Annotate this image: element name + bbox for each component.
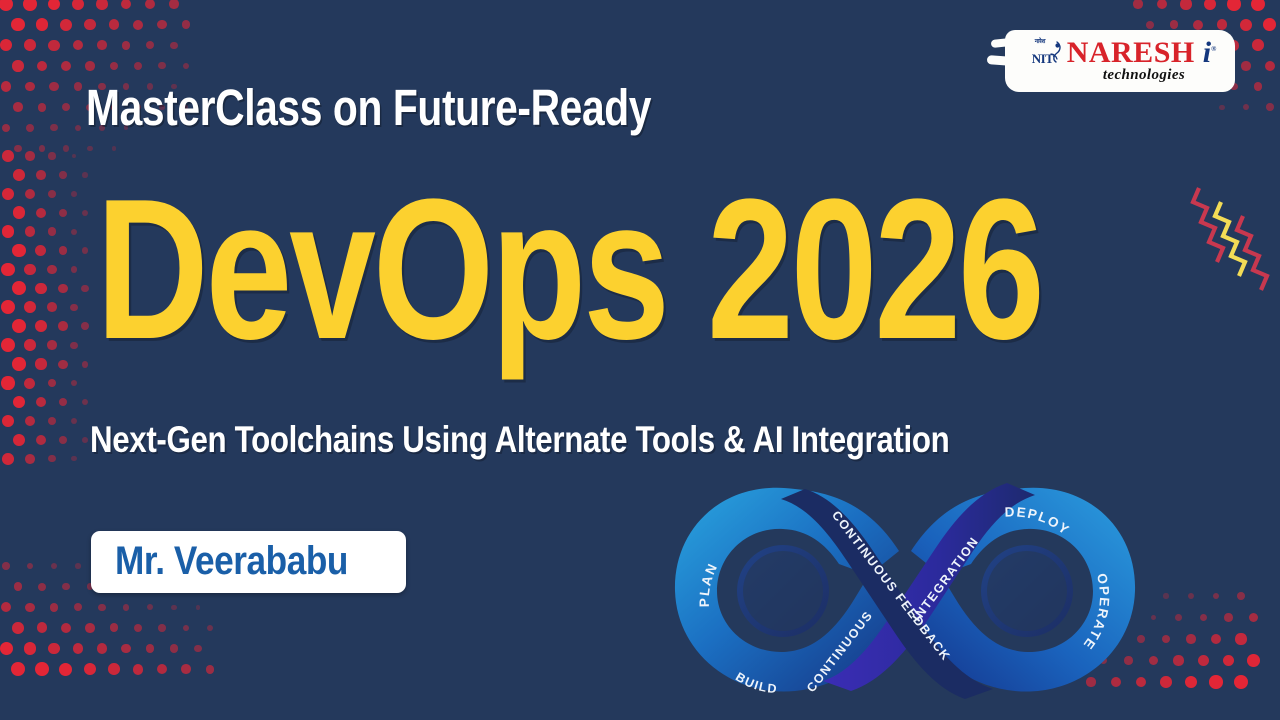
decorative-dot xyxy=(12,357,26,371)
zigzag-red-2 xyxy=(1237,216,1267,290)
decorative-dot xyxy=(13,206,26,219)
decorative-dot xyxy=(196,605,201,610)
decorative-dot xyxy=(74,603,82,611)
decorative-dot xyxy=(25,226,36,237)
decorative-dot xyxy=(39,145,46,152)
right-hole-core xyxy=(987,551,1067,631)
decorative-dot xyxy=(35,245,46,256)
decorative-dot xyxy=(1146,21,1154,29)
decorative-dot xyxy=(1157,0,1167,9)
decorative-dot xyxy=(11,18,24,31)
decorative-dot xyxy=(38,583,46,591)
decorative-dot xyxy=(1162,635,1170,643)
decorative-dot xyxy=(58,321,68,331)
decorative-dot xyxy=(73,40,83,50)
decorative-dot xyxy=(2,453,14,465)
decorative-dot xyxy=(70,304,78,312)
decorative-dots-left-edge xyxy=(0,150,90,570)
logo-swirl-icon xyxy=(1047,41,1063,63)
decorative-dot xyxy=(1241,61,1250,70)
decorative-dot xyxy=(14,145,22,153)
decorative-dot xyxy=(110,62,119,71)
decorative-dot xyxy=(145,0,155,9)
decorative-dot xyxy=(181,664,191,674)
logo-brand-initial: i® xyxy=(1203,38,1217,68)
decorative-dot xyxy=(108,663,120,675)
decorative-dot xyxy=(1249,613,1258,622)
decorative-dot xyxy=(170,644,178,652)
decorative-dot xyxy=(75,125,81,131)
decorative-dot xyxy=(24,301,36,313)
decorative-dot xyxy=(1,263,15,277)
decorative-dot xyxy=(59,171,66,178)
decorative-dot xyxy=(48,152,55,159)
hero-title: DevOps 2026 xyxy=(96,170,1042,370)
decorative-dot xyxy=(62,103,70,111)
decorative-dot xyxy=(59,436,67,444)
decorative-dot xyxy=(169,0,178,9)
decorative-dot xyxy=(183,63,189,69)
decorative-dot xyxy=(1219,105,1224,110)
decorative-dot xyxy=(25,189,35,199)
decorative-dot xyxy=(58,360,67,369)
decorative-dot xyxy=(63,145,69,151)
decorative-dot xyxy=(1243,104,1249,110)
decorative-dot xyxy=(24,39,36,51)
kicker-text: MasterClass on Future-Ready xyxy=(86,78,651,137)
decorative-dot xyxy=(12,622,24,634)
zigzag-decoration-icon xyxy=(1185,170,1280,320)
decorative-dot xyxy=(47,340,56,349)
decorative-dot xyxy=(71,418,77,424)
decorative-dot xyxy=(2,124,11,133)
decorative-dot xyxy=(1209,675,1223,689)
decorative-dot xyxy=(110,623,119,632)
decorative-dot xyxy=(48,190,56,198)
decorative-dot xyxy=(0,642,13,655)
decorative-dot xyxy=(1,376,14,389)
decorative-dot xyxy=(1160,676,1172,688)
decorative-dot xyxy=(1,300,15,314)
decorative-dot xyxy=(1265,61,1275,71)
decorative-dot xyxy=(1,602,11,612)
naresh-technologies-logo[interactable]: नारेश NIT NARESH i® technologies xyxy=(1005,30,1235,92)
decorative-dot xyxy=(1,338,15,352)
decorative-dot xyxy=(25,151,34,160)
decorative-dot xyxy=(71,266,78,273)
decorative-dot xyxy=(183,625,190,632)
decorative-dot xyxy=(62,583,69,590)
decorative-dot xyxy=(48,40,59,51)
decorative-dot xyxy=(36,208,46,218)
decorative-dot xyxy=(12,319,26,333)
decorative-dot xyxy=(72,154,77,159)
decorative-dot xyxy=(71,191,77,197)
decorative-dot xyxy=(12,244,25,257)
decorative-dot xyxy=(50,603,59,612)
decorative-dot xyxy=(36,170,46,180)
decorative-dot xyxy=(87,146,92,151)
decorative-dot xyxy=(35,283,47,295)
decorative-dot xyxy=(13,102,23,112)
devops-infinity-diagram: PLAN BUILD CONTINUOUS CONTINUOUS FEEDBAC… xyxy=(655,455,1155,720)
decorative-dot xyxy=(72,0,84,10)
decorative-dot xyxy=(60,19,72,31)
decorative-dot xyxy=(49,82,58,91)
decorative-dot xyxy=(82,437,88,443)
decorative-dot xyxy=(73,643,84,654)
decorative-dot xyxy=(1227,0,1240,11)
infinity-ribbon xyxy=(675,483,1135,699)
decorative-dot xyxy=(157,664,167,674)
decorative-dot xyxy=(37,622,48,633)
decorative-dot xyxy=(27,563,34,570)
decorative-dot xyxy=(1198,655,1209,666)
logo-tagline: technologies xyxy=(1103,67,1185,84)
decorative-dot xyxy=(24,339,36,351)
decorative-dot xyxy=(1213,593,1220,600)
decorative-dot xyxy=(1251,0,1265,11)
decorative-dot xyxy=(121,644,131,654)
decorative-dot xyxy=(13,169,25,181)
decorative-dot xyxy=(170,42,177,49)
decorative-dot xyxy=(1173,655,1183,665)
decorative-dot xyxy=(96,0,108,10)
decorative-dot xyxy=(133,664,144,675)
decorative-dot xyxy=(37,61,48,72)
decorative-dot xyxy=(48,455,55,462)
decorative-dot xyxy=(24,378,35,389)
nit-emblem-icon: नारेश NIT xyxy=(1032,40,1062,66)
decorative-dot xyxy=(35,320,47,332)
decorative-dot xyxy=(112,146,117,151)
decorative-dot xyxy=(48,417,56,425)
decorative-dot xyxy=(0,0,13,11)
decorative-dot xyxy=(84,19,95,30)
decorative-dot xyxy=(82,210,88,216)
decorative-dot xyxy=(82,399,88,405)
decorative-dot xyxy=(82,247,89,254)
speaker-name: Mr. Veerababu xyxy=(115,540,348,582)
decorative-dot xyxy=(2,415,15,428)
decorative-dot xyxy=(1252,39,1264,51)
decorative-dot xyxy=(157,20,166,29)
decorative-dot xyxy=(26,124,34,132)
decorative-dot xyxy=(14,582,23,591)
decorative-dot xyxy=(1186,634,1195,643)
decorative-dot xyxy=(61,61,71,71)
decorative-dot xyxy=(146,644,155,653)
decorative-dot xyxy=(109,19,120,30)
decorative-dot xyxy=(12,281,26,295)
decorative-dot xyxy=(70,342,77,349)
decorative-dot xyxy=(158,62,165,69)
decorative-dot xyxy=(71,456,76,461)
decorative-dot xyxy=(123,604,130,611)
decorative-dot xyxy=(48,227,56,235)
decorative-dot xyxy=(1188,593,1194,599)
decorative-dot xyxy=(23,0,37,11)
decorative-dot xyxy=(1235,633,1246,644)
decorative-dot xyxy=(59,246,68,255)
decorative-dot xyxy=(2,150,14,162)
decorative-dot xyxy=(1163,593,1168,598)
decorative-dot xyxy=(2,225,15,238)
decorative-dot xyxy=(206,665,215,674)
decorative-dot xyxy=(194,645,201,652)
decorative-dot xyxy=(1211,634,1221,644)
decorative-dot xyxy=(1240,19,1252,31)
decorative-dot xyxy=(59,398,67,406)
decorative-dot xyxy=(158,624,165,631)
decorative-dot xyxy=(48,0,61,10)
decorative-dot xyxy=(81,285,88,292)
decorative-dot xyxy=(36,435,46,445)
decorative-dot xyxy=(1133,0,1142,9)
decorative-dot xyxy=(82,172,87,177)
decorative-dot xyxy=(13,434,25,446)
decorative-dot xyxy=(133,20,143,30)
decorative-dot xyxy=(146,41,154,49)
decorative-dot xyxy=(74,82,82,90)
decorative-dot xyxy=(0,39,12,51)
logo-brand-name: NARESH xyxy=(1067,38,1195,68)
decorative-dot xyxy=(59,209,67,217)
decorative-dot xyxy=(1237,592,1245,600)
decorative-dot xyxy=(171,605,176,610)
decorative-dot xyxy=(97,40,107,50)
decorative-dot xyxy=(11,662,25,676)
decorative-dot xyxy=(1193,20,1203,30)
zigzag-red-1 xyxy=(1193,188,1223,262)
decorative-dot xyxy=(1247,654,1260,667)
decorative-dot xyxy=(1185,676,1198,689)
decorative-dot xyxy=(1263,18,1276,31)
decorative-dot xyxy=(25,416,35,426)
decorative-dot xyxy=(51,563,57,569)
decorative-dot xyxy=(81,322,89,330)
logo-registered-mark: ® xyxy=(1211,45,1216,53)
decorative-dot xyxy=(98,604,105,611)
decorative-dot xyxy=(121,0,132,9)
decorative-dot xyxy=(207,625,213,631)
decorative-dot xyxy=(122,41,131,50)
decorative-dot xyxy=(71,229,77,235)
decorative-dot xyxy=(134,62,142,70)
decorative-dot xyxy=(97,643,107,653)
decorative-dot xyxy=(1223,655,1235,667)
decorative-dot xyxy=(1234,675,1248,689)
decorative-dot xyxy=(1266,103,1273,110)
decorative-dot xyxy=(1170,20,1179,29)
decorative-dot xyxy=(13,396,26,409)
decorative-dot xyxy=(1175,614,1182,621)
decorative-dot xyxy=(36,397,47,408)
decorative-dot xyxy=(47,265,56,274)
decorative-dot xyxy=(147,604,153,610)
decorative-dot xyxy=(1200,614,1208,622)
decorative-dot xyxy=(85,623,95,633)
zigzag-yellow xyxy=(1215,202,1245,276)
poster-canvas: नारेश NIT NARESH i® technologies MasterC… xyxy=(0,0,1280,720)
decorative-dot xyxy=(50,124,57,131)
decorative-dot xyxy=(38,103,47,112)
decorative-dot xyxy=(2,562,9,569)
decorative-dot xyxy=(182,20,190,28)
decorative-dot xyxy=(25,603,35,613)
decorative-dot xyxy=(75,563,80,568)
decorative-dot xyxy=(1217,19,1228,30)
decorative-dot xyxy=(36,18,49,31)
decorative-dot xyxy=(61,623,71,633)
decorative-dot xyxy=(48,379,57,388)
left-hole-core xyxy=(743,551,823,631)
decorative-dot xyxy=(71,380,78,387)
decorative-dot xyxy=(48,643,60,655)
decorative-dot xyxy=(1180,0,1191,10)
decorative-dot xyxy=(59,663,72,676)
speaker-badge: Mr. Veerababu xyxy=(91,531,406,593)
decorative-dot xyxy=(12,60,23,71)
decorative-dot xyxy=(134,624,142,632)
decorative-dot xyxy=(85,61,94,70)
nit-emblem-script: नारेश xyxy=(1035,39,1046,45)
decorative-dot xyxy=(35,662,49,676)
decorative-dot xyxy=(58,284,67,293)
decorative-dot xyxy=(84,663,96,675)
decorative-dot xyxy=(82,361,89,368)
decorative-dot xyxy=(24,642,36,654)
decorative-dot xyxy=(35,358,46,369)
decorative-dot xyxy=(1,81,12,92)
decorative-dot xyxy=(25,82,35,92)
decorative-dot xyxy=(47,302,57,312)
decorative-dot xyxy=(1204,0,1216,10)
decorative-dot xyxy=(1254,82,1263,91)
decorative-dot xyxy=(25,454,35,464)
decorative-dot xyxy=(24,264,35,275)
decorative-dot xyxy=(1224,613,1233,622)
decorative-dot xyxy=(2,188,14,200)
